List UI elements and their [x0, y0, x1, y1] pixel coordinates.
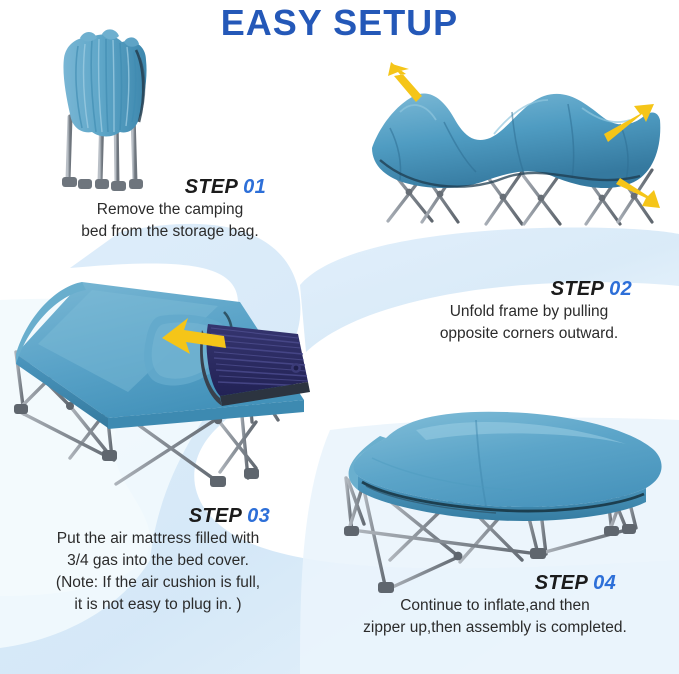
step-01-line-2: bed from the storage bag. [60, 221, 280, 243]
step-01-label: STEP [185, 176, 238, 198]
step-03-line-3: (Note: If the air cushion is full, [8, 572, 308, 594]
step-04-number: 04 [593, 572, 616, 594]
step-03-line-4: it is not easy to plug in. ) [8, 594, 308, 616]
step-04-line-2: zipper up,then assembly is completed. [330, 617, 660, 639]
folded-camping-bed-icon [40, 22, 180, 202]
step-01-text-block: STEP01 Remove the camping bed from the s… [60, 176, 280, 243]
step-02-number: 02 [609, 278, 632, 300]
step-04-text-block: STEP04 Continue to inflate,and then zipp… [330, 572, 660, 639]
step-01-description: Remove the camping bed from the storage … [60, 199, 280, 243]
assembled-camping-bed-icon [306, 404, 672, 600]
step-02-line-1: Unfold frame by pulling [398, 301, 660, 323]
step-02-label: STEP [551, 278, 604, 300]
infographic-canvas: EASY SETUP [0, 0, 679, 674]
step-04-heading: STEP04 [330, 572, 660, 595]
step-01-line-1: Remove the camping [60, 199, 280, 221]
step-03-description: Put the air mattress filled with 3/4 gas… [8, 528, 308, 616]
bed-with-air-mattress-icon [8, 272, 326, 510]
step-01-number: 01 [243, 176, 266, 198]
step-02-line-2: opposite corners outward. [398, 323, 660, 345]
step-03-number: 03 [247, 505, 270, 527]
step-03-heading: STEP03 [8, 505, 308, 528]
step-03-label: STEP [189, 505, 242, 527]
direction-arrow-icon [388, 62, 422, 102]
step-03-text-block: STEP03 Put the air mattress filled with … [8, 505, 308, 616]
step-03-line-1: Put the air mattress filled with [8, 528, 308, 550]
step-04-label: STEP [535, 572, 588, 594]
step-01-heading: STEP01 [60, 176, 280, 199]
step-02-text-block: STEP02 Unfold frame by pulling opposite … [398, 278, 660, 345]
step-03-line-2: 3/4 gas into the bed cover. [8, 550, 308, 572]
step-02-heading: STEP02 [398, 278, 660, 301]
step-04-description: Continue to inflate,and then zipper up,t… [330, 595, 660, 639]
step-04-line-1: Continue to inflate,and then [330, 595, 660, 617]
unfolding-frame-icon [372, 56, 662, 226]
step-02-description: Unfold frame by pulling opposite corners… [398, 301, 660, 345]
